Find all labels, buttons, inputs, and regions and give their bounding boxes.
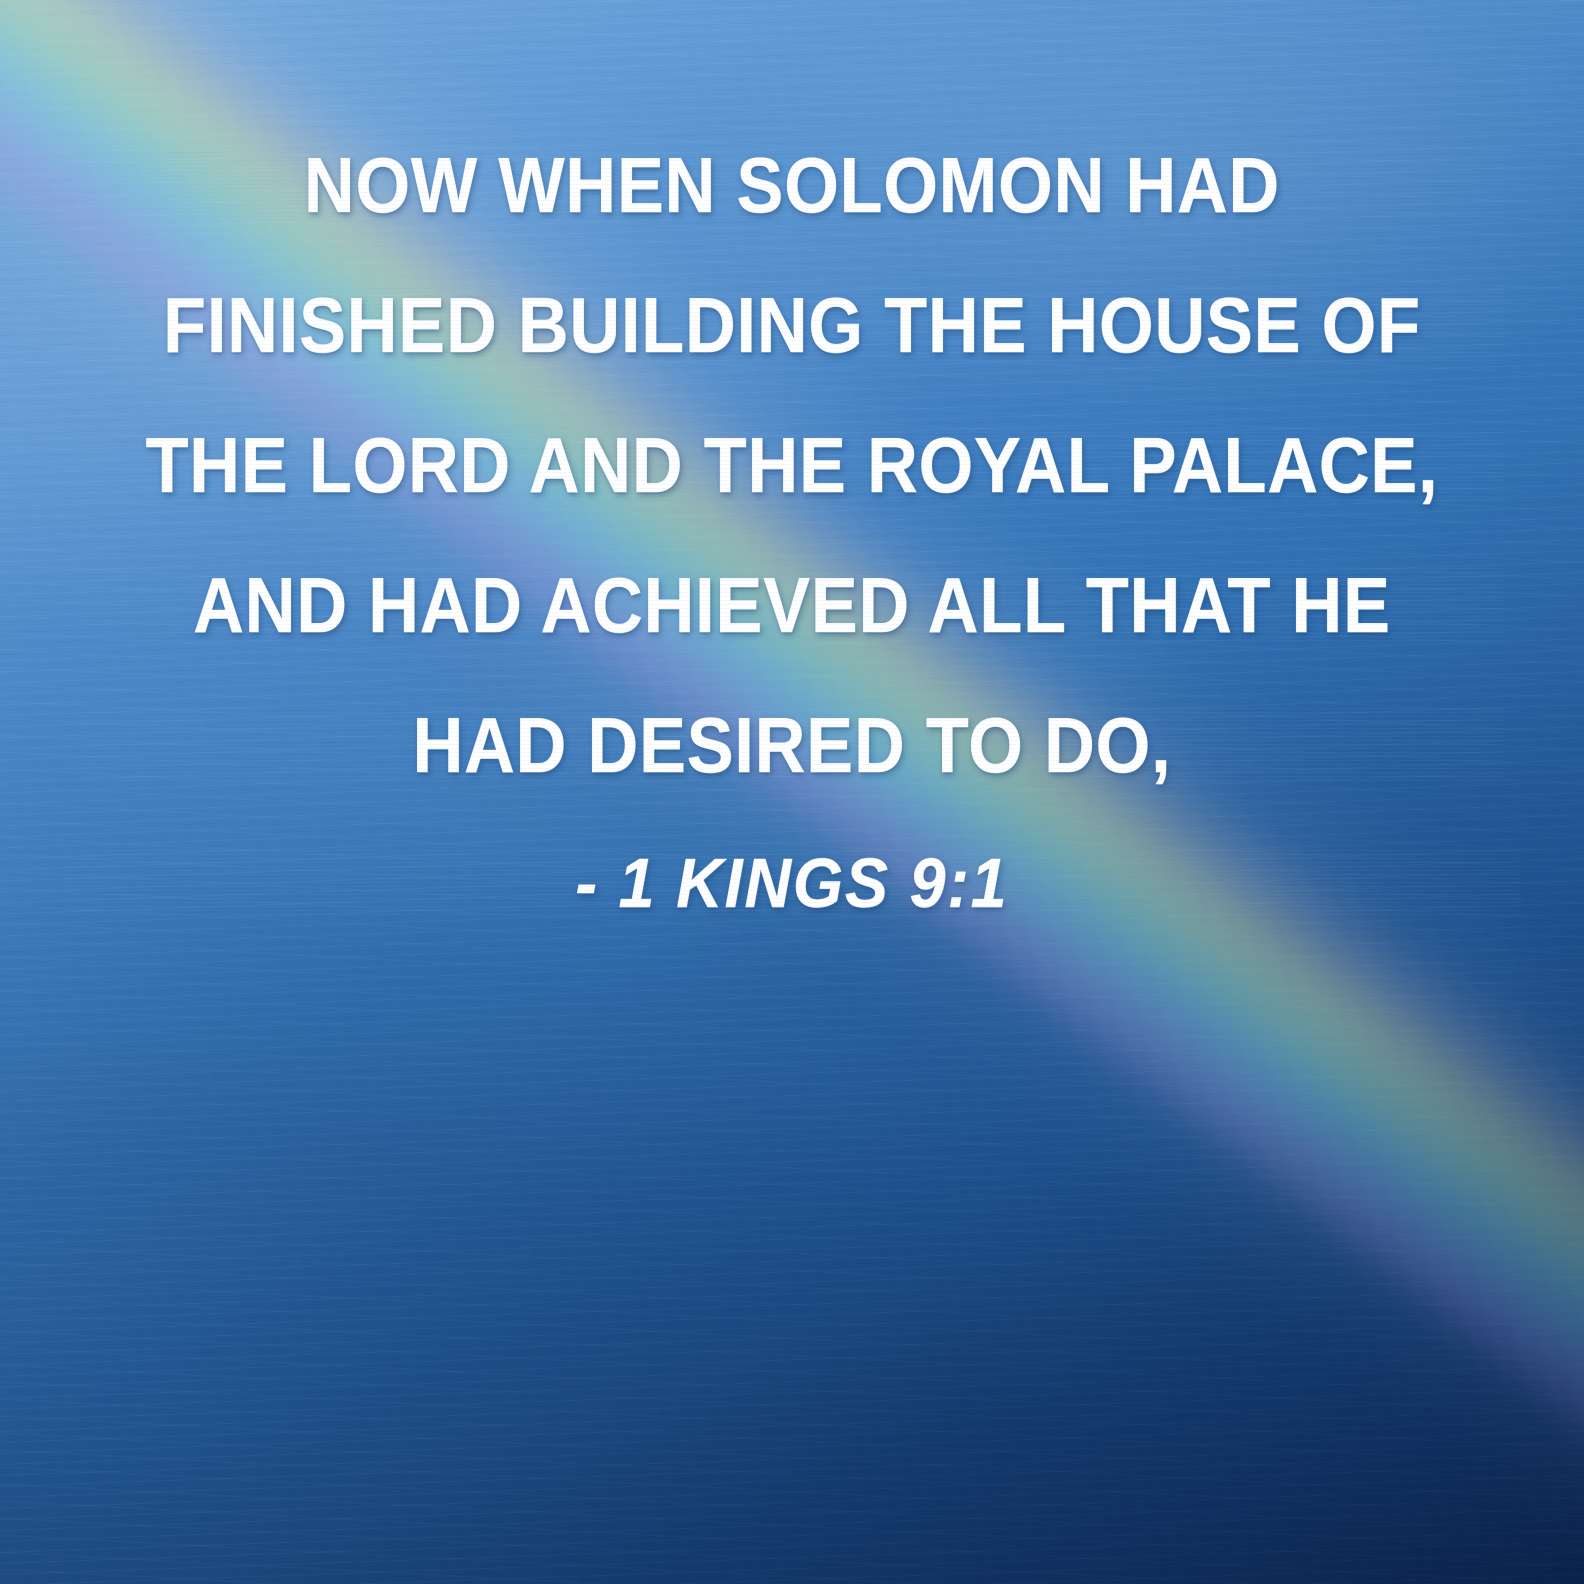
verse-line-3: the LORD and the royal palace, bbox=[79, 426, 1505, 504]
verse-image-canvas: Now when Solomon had finished building t… bbox=[0, 0, 1584, 1584]
verse-citation: - 1 Kings 9:1 bbox=[63, 848, 1520, 918]
verse-line-5: had desired to do, bbox=[79, 706, 1505, 784]
verse-line-1: Now when Solomon had bbox=[79, 146, 1505, 224]
verse-line-2: finished building the house of bbox=[79, 286, 1505, 364]
verse-line-4: and had achieved all that he bbox=[79, 566, 1505, 644]
verse-text-block: Now when Solomon had finished building t… bbox=[0, 146, 1584, 918]
